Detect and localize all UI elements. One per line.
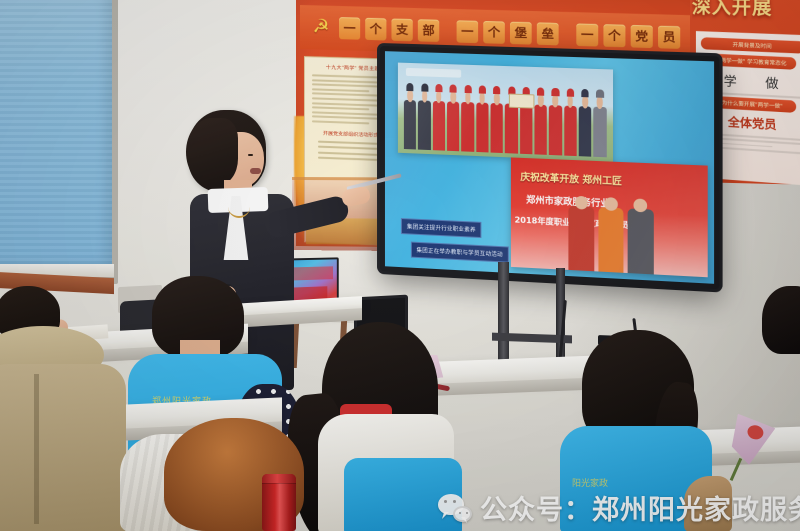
banner-char: 一 bbox=[576, 23, 598, 46]
attendee-ponytail bbox=[294, 322, 484, 531]
photo-person bbox=[520, 104, 532, 155]
poster-text-line bbox=[312, 88, 369, 92]
photo-person bbox=[579, 106, 592, 157]
screenshot-root: ☭ 一 个 支 部 一 个 堡 垒 一 个 党 员 一 面 旗 帜 十九大"两学… bbox=[0, 0, 800, 531]
banner-char: 一 bbox=[457, 20, 479, 43]
photo-person bbox=[418, 100, 430, 150]
attendee-blue-vest-right: 阳光家政 bbox=[556, 330, 746, 531]
slide-award-photo: 庆祝改革开放 郑州工匠 郑州市家政服务行业 2018年度职业技能家政服务员大赛 bbox=[511, 157, 708, 276]
banner-char: 一 bbox=[339, 17, 360, 40]
award-figure bbox=[628, 209, 654, 274]
banner-char: 个 bbox=[365, 18, 386, 41]
group-photo-people-row bbox=[404, 82, 606, 157]
banner-char: 员 bbox=[658, 26, 680, 49]
banner-char: 个 bbox=[483, 21, 505, 44]
wall-mounted-display[interactable]: 庆祝改革开放 郑州工匠 郑州市家政服务行业 2018年度职业技能家政服务员大赛 … bbox=[380, 46, 719, 289]
photo-person bbox=[476, 102, 488, 152]
vest-logo-text: 阳光家政 bbox=[572, 476, 662, 494]
award-figure bbox=[569, 206, 594, 271]
attendee-arm-sleeve bbox=[684, 476, 732, 531]
display-screen: 庆祝改革开放 郑州工匠 郑州市家政服务行业 2018年度职业技能家政服务员大赛 … bbox=[385, 51, 714, 284]
photo-person bbox=[549, 105, 562, 156]
attendee-khaki-coat bbox=[0, 286, 140, 531]
banner-char: 堡 bbox=[510, 22, 532, 45]
banner-char: 垒 bbox=[537, 22, 559, 45]
banner-gap bbox=[564, 23, 571, 46]
banner-char: 部 bbox=[418, 19, 439, 42]
photo-logo-watermark bbox=[406, 68, 461, 78]
banner-char: 支 bbox=[391, 18, 412, 41]
slide-group-photo bbox=[398, 62, 613, 161]
photo-person bbox=[564, 106, 577, 157]
banner-char: 个 bbox=[603, 24, 625, 47]
presenter-mouth bbox=[250, 168, 261, 174]
slide-bullet-1: 集团关注提升行业职业素养 bbox=[401, 218, 482, 238]
photo-certificate bbox=[508, 93, 534, 108]
photo-person bbox=[433, 101, 445, 151]
photo-person bbox=[404, 100, 416, 150]
blue-volunteer-vest bbox=[344, 458, 462, 531]
banner-char: 党 bbox=[631, 25, 653, 48]
poster-right-title: 深入开展 bbox=[692, 0, 800, 28]
award-banner-line1: 庆祝改革开放 郑州工匠 bbox=[520, 169, 701, 191]
slide-bullet-2: 集团正在举办教职与学员互动活动 bbox=[410, 242, 508, 263]
attendee-far-right bbox=[762, 286, 800, 406]
poster-text-line bbox=[312, 107, 369, 111]
photo-person bbox=[447, 101, 459, 151]
poster-right-pill-top: 开展背景及时间 bbox=[701, 37, 800, 53]
photo-person bbox=[491, 103, 503, 154]
poster-text-line bbox=[312, 120, 369, 124]
photo-person bbox=[462, 102, 474, 152]
window-blind bbox=[0, 0, 112, 266]
hammer-sickle-icon: ☭ bbox=[308, 15, 334, 40]
poster-right-pill-mid: "两学一做" 学习教育常态化 bbox=[709, 54, 796, 70]
award-figure bbox=[598, 207, 624, 272]
photo-person bbox=[594, 107, 607, 158]
presenter-hair-front bbox=[186, 118, 238, 186]
khaki-puffer-coat bbox=[0, 364, 126, 531]
red-thermos bbox=[262, 474, 296, 531]
attendee-hair bbox=[762, 286, 800, 354]
tv-stand-pole bbox=[498, 262, 509, 374]
photo-person bbox=[535, 105, 547, 156]
poster-right-pill-bottom: 为什么要开展"两学一做" bbox=[709, 96, 796, 113]
photo-person bbox=[505, 104, 517, 155]
banner-gap bbox=[444, 20, 451, 42]
